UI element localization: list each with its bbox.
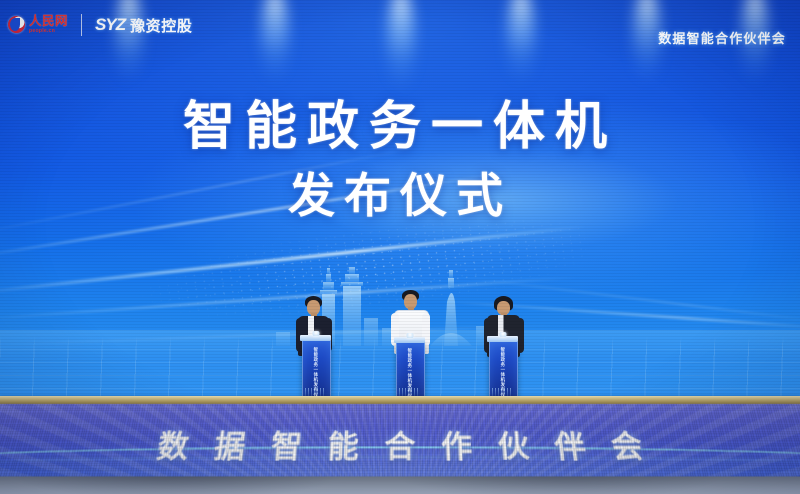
- podium-center[interactable]: 智能政务一体机发布仪式: [396, 342, 423, 400]
- header-logos: 人民网 people.cn SYZ 豫资控股: [8, 14, 192, 36]
- podium-right[interactable]: 智能政务一体机发布仪式: [489, 341, 516, 400]
- people-globe-icon: [8, 16, 25, 33]
- launch-button-icon[interactable]: [312, 331, 319, 336]
- banner-title: 数据智能合作伙伴会: [0, 421, 800, 466]
- screen-title-main: 智能政务一体机: [0, 84, 800, 159]
- spotlight-beam: [388, 0, 414, 90]
- launch-button-icon[interactable]: [406, 333, 413, 338]
- yuzi-holdings-logo[interactable]: SYZ 豫资控股: [95, 15, 192, 36]
- logo-divider: [81, 14, 82, 36]
- syz-mark-icon: SYZ: [95, 15, 125, 35]
- spotlight-beam: [508, 0, 534, 82]
- screen-title-sub: 发布仪式: [0, 157, 800, 226]
- event-tag: 数据智能合作伙伴会: [658, 28, 786, 47]
- spotlight-beam: [634, 0, 660, 82]
- podium-left[interactable]: 智能政务一体机发布仪式: [302, 340, 329, 400]
- yuzi-holdings-label: 豫资控股: [130, 15, 192, 36]
- spotlight-beam: [116, 0, 142, 82]
- spotlight-beam: [262, 0, 288, 82]
- peoplecn-label-en: people.cn: [29, 29, 68, 34]
- peoplecn-logo[interactable]: 人民网 people.cn: [8, 15, 68, 34]
- event-photo-stage: 人民网 people.cn SYZ 豫资控股 数据智能合作伙伴会 智能政务一体机…: [0, 0, 800, 494]
- peoplecn-label-cn: 人民网: [29, 15, 68, 28]
- stage-front-led-banner: 数据智能合作伙伴会: [0, 404, 800, 476]
- launch-button-icon[interactable]: [499, 332, 506, 337]
